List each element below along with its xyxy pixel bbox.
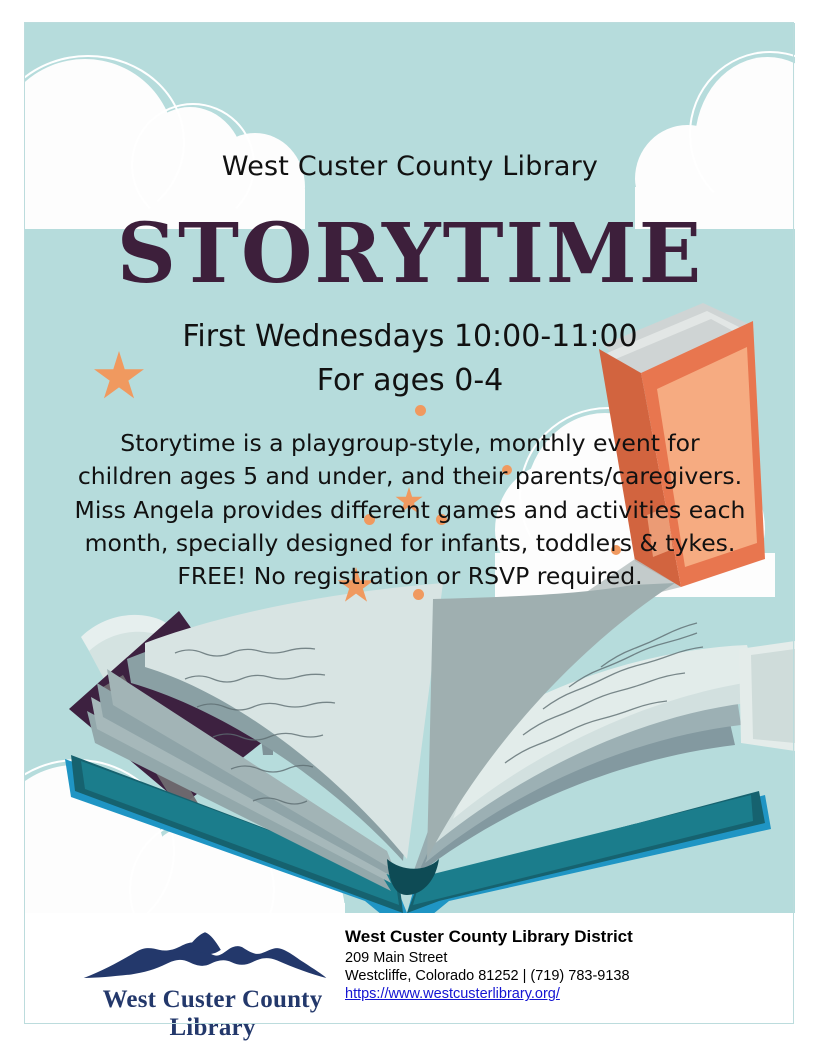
cloud-top-right-icon: [635, 39, 795, 219]
cloud-bottom-left-icon: [25, 713, 315, 913]
mountain-range-icon: [80, 927, 330, 985]
logo-wordmark: West Custer County Library: [80, 986, 345, 1042]
closed-purple-book-illustration: [33, 609, 273, 839]
poster-text-stack: West Custer County Library STORYTIME Fir…: [25, 23, 795, 913]
library-logo: West Custer County Library: [25, 915, 345, 1042]
decor-dot-icon: [415, 405, 426, 416]
city-phone-line: Westcliffe, Colorado 81252 | (719) 783-9…: [345, 968, 795, 986]
website-link[interactable]: https://www.westcusterlibrary.org/: [345, 986, 560, 1004]
open-book-illustration: [35, 583, 795, 913]
age-range-line: For ages 0-4: [25, 363, 795, 398]
poster-art-board: West Custer County Library STORYTIME Fir…: [25, 23, 795, 913]
cloud-top-left-icon: [25, 39, 295, 219]
flyer-page: West Custer County Library STORYTIME Fir…: [0, 0, 816, 1056]
contact-info: West Custer County Library District 209 …: [345, 915, 795, 1004]
description-body: Storytime is a playgroup-style, monthly …: [65, 427, 755, 594]
district-name: West Custer County Library District: [345, 927, 795, 947]
organization-name: West Custer County Library: [25, 151, 795, 182]
schedule-line: First Wednesdays 10:00-11:00: [25, 319, 795, 354]
address-line: 209 Main Street: [345, 950, 795, 968]
footer: West Custer County Library West Custer C…: [25, 915, 795, 1023]
page-title: STORYTIME: [25, 211, 795, 297]
